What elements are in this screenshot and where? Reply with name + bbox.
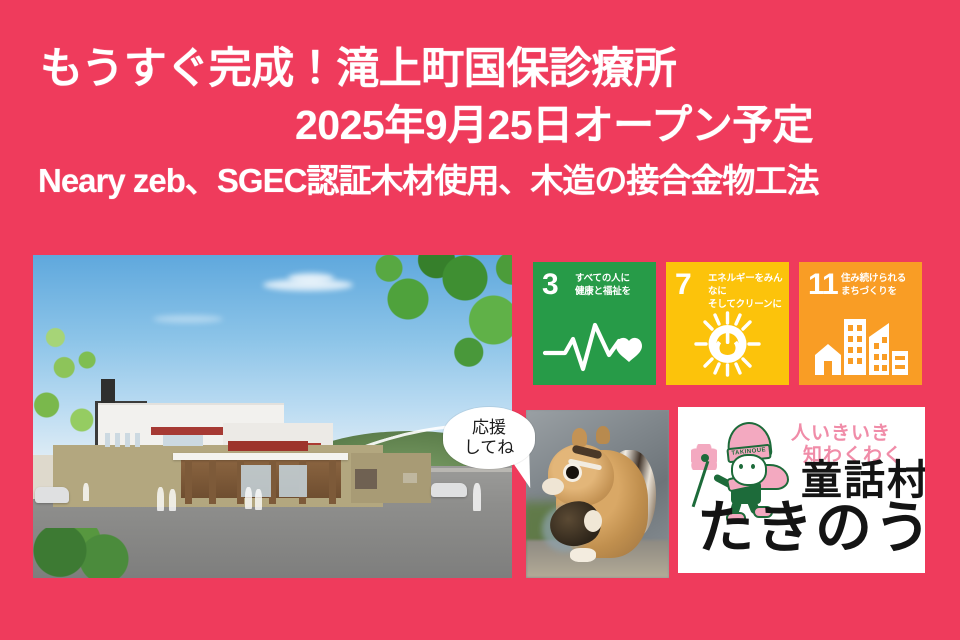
parked-car bbox=[35, 487, 69, 503]
building-render-photo bbox=[33, 255, 512, 578]
sdg-goal-7: 7 エネルギーをみんなに そしてクリーンに bbox=[666, 262, 789, 385]
sdg-goal-3: 3 すべての人に 健康と福祉を bbox=[533, 262, 656, 385]
figure-silhouette bbox=[245, 487, 252, 509]
bush-foreground bbox=[33, 528, 137, 578]
window-strip bbox=[163, 435, 203, 446]
sdg-number: 11 bbox=[808, 270, 838, 300]
chipmunk-photo bbox=[526, 410, 669, 578]
entrance-canopy bbox=[173, 453, 348, 460]
speech-balloon: 応援 してね bbox=[443, 407, 535, 469]
mascot-face bbox=[731, 454, 767, 486]
entrance-red-roof bbox=[228, 441, 308, 451]
features-line: Neary zeb、SGEC認証木材使用、木造の接合金物工法 bbox=[38, 164, 960, 197]
sdg-goal-11: 11 住み続けられる まちづくりを bbox=[799, 262, 922, 385]
sun-power-icon bbox=[666, 311, 789, 377]
parked-car bbox=[431, 483, 467, 497]
side-window bbox=[403, 473, 417, 483]
building-red-band bbox=[151, 427, 223, 435]
sdg-caption: エネルギーをみんなに そしてクリーンに bbox=[708, 273, 785, 311]
figure-silhouette bbox=[157, 487, 164, 511]
figure-silhouette bbox=[169, 489, 176, 511]
poster-canvas: もうすぐ完成！滝上町国保診療所 2025年9月25日オープン予定 Neary z… bbox=[0, 0, 960, 640]
sdg-icon-row: 3 すべての人に 健康と福祉を 7 エネルギーをみんなに そしてクリーンに bbox=[533, 262, 922, 385]
takinoue-logo-panel: TAKINOUE 人いきいき 知わくわく 童話村 たきのうえ bbox=[678, 407, 925, 573]
chipmunk-eye bbox=[566, 466, 579, 479]
figure-silhouette bbox=[255, 489, 262, 510]
sdg-caption-line-1: 住み続けられる bbox=[841, 273, 906, 284]
sdg-caption-line-2: 健康と福祉を bbox=[575, 286, 631, 297]
headline-block: もうすぐ完成！滝上町国保診療所 2025年9月25日オープン予定 Neary z… bbox=[0, 48, 960, 197]
chipmunk-paw bbox=[584, 510, 602, 532]
mascot-eye bbox=[739, 464, 743, 469]
sdg-caption-line-1: すべての人に bbox=[575, 273, 630, 284]
cloud bbox=[153, 315, 223, 323]
window bbox=[125, 433, 130, 447]
sdg-number: 3 bbox=[542, 270, 558, 300]
speech-line-1: 応援 bbox=[472, 418, 506, 437]
speech-balloon-text: 応援 してね bbox=[464, 418, 515, 457]
side-door bbox=[355, 469, 377, 489]
cloud bbox=[288, 273, 334, 283]
sdg-caption: 住み続けられる まちづくりを bbox=[841, 273, 918, 299]
chipmunk-ear bbox=[572, 428, 587, 447]
opening-date-line: 2025年9月25日オープン予定 bbox=[295, 105, 960, 146]
sdg-number: 7 bbox=[675, 270, 691, 300]
figure-silhouette bbox=[473, 483, 481, 511]
page-title: もうすぐ完成！滝上町国保診療所 bbox=[40, 48, 960, 91]
canopy-column bbox=[185, 460, 192, 504]
speech-line-2: してね bbox=[464, 438, 515, 457]
chipmunk-foot bbox=[570, 548, 596, 562]
heartbeat-icon bbox=[533, 311, 656, 377]
logo-inner: TAKINOUE 人いきいき 知わくわく 童話村 たきのうえ bbox=[683, 412, 920, 568]
canopy-column bbox=[329, 460, 336, 504]
window bbox=[135, 433, 140, 447]
sdg-caption-line-2: そしてクリーンに bbox=[708, 299, 782, 310]
sdg-caption-line-1: エネルギーをみんなに bbox=[708, 273, 782, 297]
tree-right bbox=[332, 255, 512, 383]
figure-silhouette bbox=[83, 483, 89, 501]
sdg-caption-line-2: まちづくりを bbox=[841, 286, 897, 297]
chipmunk-ear bbox=[596, 426, 610, 444]
logo-town-name: たきのうえ bbox=[697, 500, 925, 557]
canopy-column bbox=[209, 460, 216, 504]
mascot-eye bbox=[751, 464, 755, 469]
sdg-caption: すべての人に 健康と福祉を bbox=[575, 273, 652, 299]
cityscape-icon bbox=[799, 311, 922, 377]
tree-left bbox=[33, 315, 117, 465]
chipmunk-snout bbox=[542, 478, 564, 495]
entrance-glass bbox=[279, 465, 307, 497]
logo-title: 童話村 bbox=[801, 460, 925, 501]
